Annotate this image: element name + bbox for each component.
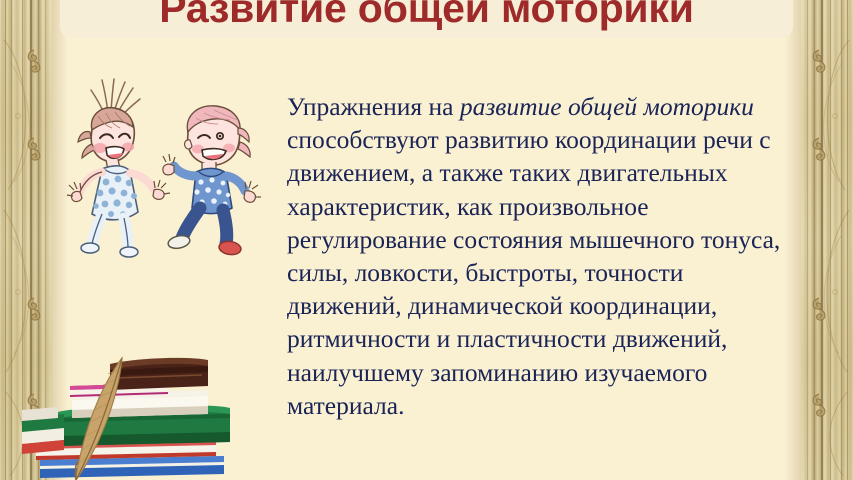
body-run-1: Упражнения на [287, 92, 460, 121]
scroll-ornament-icon [809, 392, 829, 418]
book-brown-top [110, 358, 208, 390]
body-run-emphasis: развитие общей моторики [460, 92, 754, 121]
book-side-edges [22, 407, 64, 454]
girl-figure [67, 79, 170, 257]
body-run-3: способствуют развитию координации речи с… [287, 125, 780, 420]
scroll-ornament-icon [809, 296, 829, 322]
two-dancing-children-illustration [62, 72, 267, 267]
scroll-ornament-icon [24, 48, 44, 74]
book-blue-bottom [40, 456, 224, 478]
right-frame-shadow [785, 0, 801, 480]
book-stack-with-quill-illustration [18, 352, 253, 480]
page-title: Развитие общей моторики [60, 0, 793, 32]
presentation-slide: Развитие общей моторики [0, 0, 853, 480]
scroll-ornament-icon [24, 136, 44, 162]
scroll-ornament-icon [809, 136, 829, 162]
body-paragraph: Упражнения на развитие общей моторики сп… [287, 90, 787, 422]
scroll-ornament-icon [809, 48, 829, 74]
scroll-ornament-icon [24, 296, 44, 322]
boy-figure [163, 106, 261, 256]
